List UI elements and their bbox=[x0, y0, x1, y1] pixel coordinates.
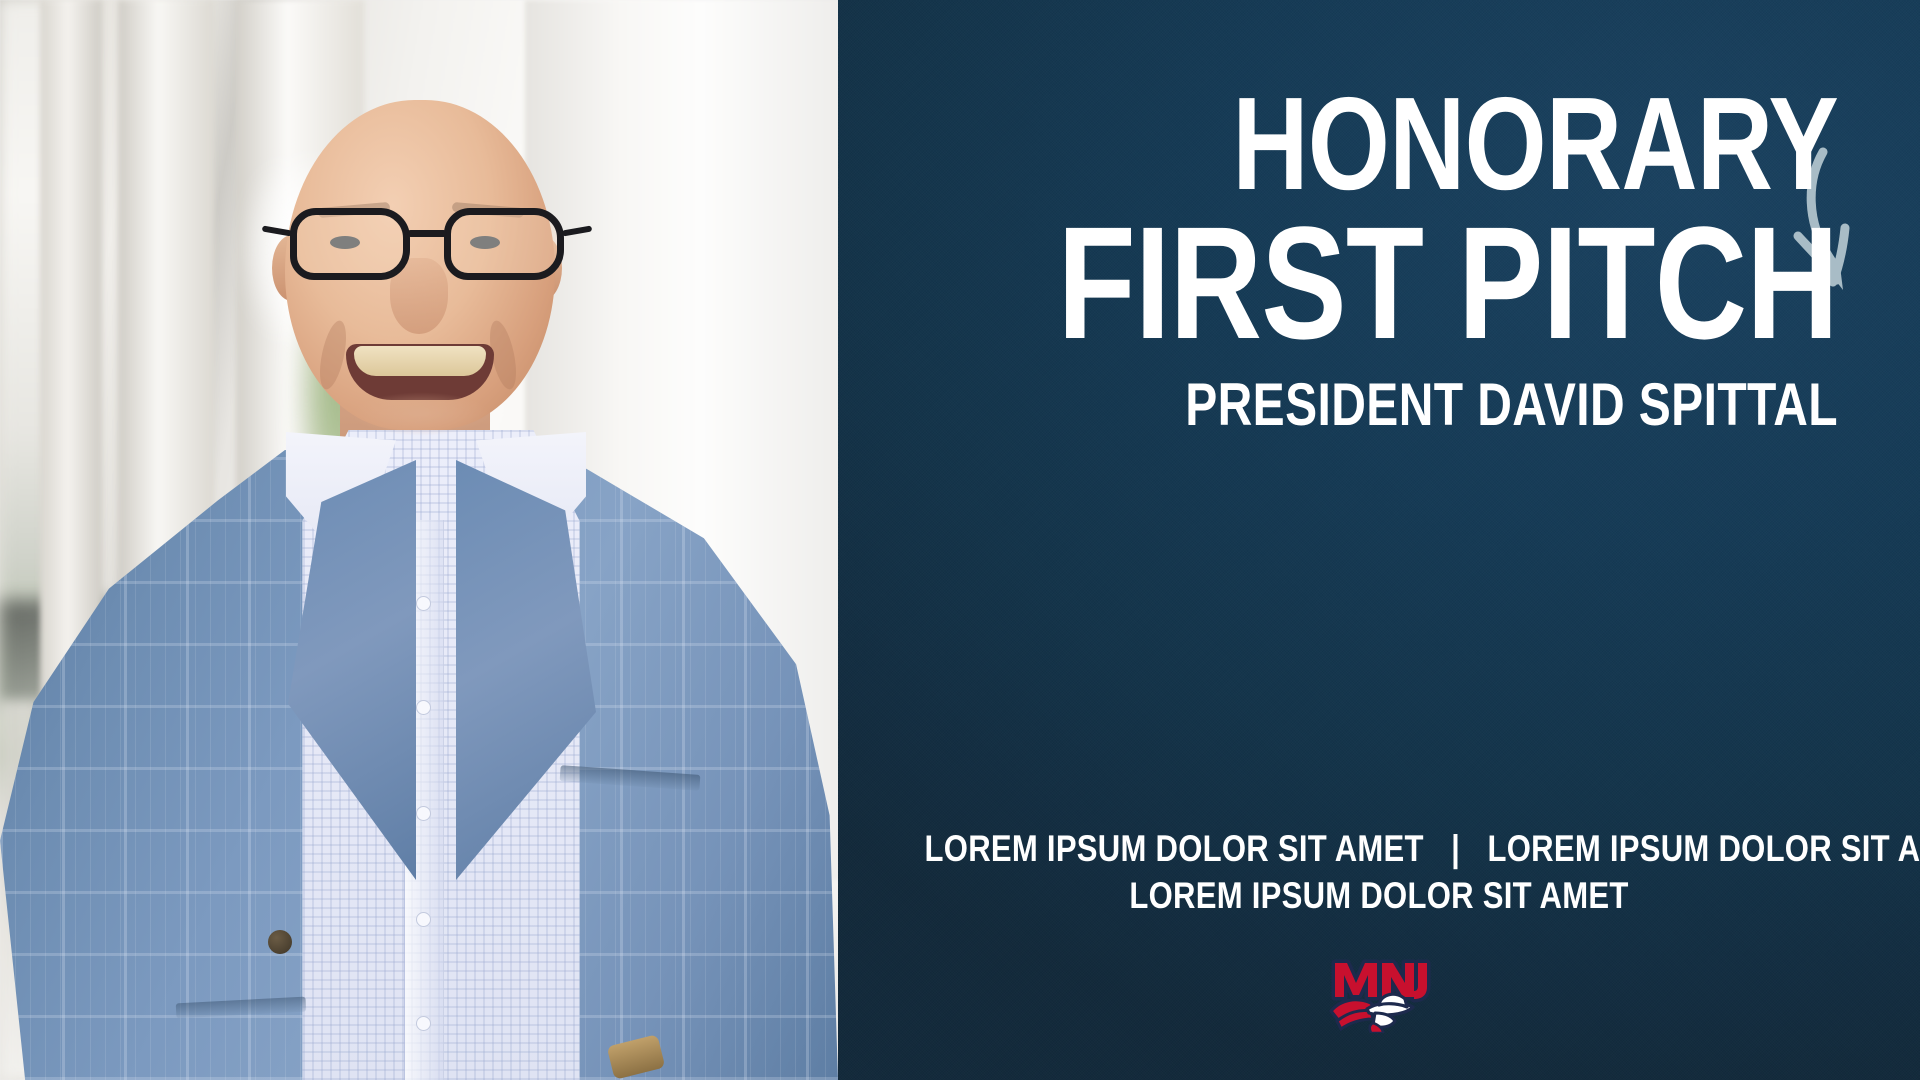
shirt-button bbox=[416, 806, 431, 821]
shirt-button bbox=[416, 700, 431, 715]
sponsor-line-2: LOREM IPSUM DOLOR SIT AMET bbox=[925, 873, 1834, 920]
glasses-bridge bbox=[407, 230, 447, 237]
blazer-button bbox=[268, 930, 292, 954]
sponsor-1: LOREM IPSUM DOLOR SIT AMET bbox=[925, 828, 1424, 869]
shirt-button bbox=[416, 596, 431, 611]
logo-container bbox=[838, 955, 1920, 1033]
headline-subtitle: PRESIDENT DAVID SPITTAL bbox=[1038, 370, 1838, 439]
headline-block: HONORARY FIRST PITCH PRESIDENT DAVID SPI… bbox=[838, 82, 1920, 439]
lens-left bbox=[290, 208, 410, 280]
glasses-temple-left bbox=[262, 225, 293, 236]
portrait-subject bbox=[0, 0, 838, 1080]
eyeglasses bbox=[276, 208, 576, 288]
sponsor-block: LOREM IPSUM DOLOR SIT AMET | LOREM IPSUM… bbox=[838, 826, 1920, 919]
sponsor-2: LOREM IPSUM DOLOR SIT AMET bbox=[1487, 828, 1920, 869]
headline-line-2: FIRST PITCH bbox=[1038, 208, 1838, 358]
headline-line-1: HONORARY bbox=[1038, 82, 1838, 206]
president-portrait-photo bbox=[0, 0, 838, 1080]
poster-canvas: HONORARY FIRST PITCH PRESIDENT DAVID SPI… bbox=[0, 0, 1920, 1080]
lens-right bbox=[444, 208, 564, 280]
teeth bbox=[354, 346, 486, 376]
event-info-panel: HONORARY FIRST PITCH PRESIDENT DAVID SPI… bbox=[838, 0, 1920, 1080]
mnu-logo bbox=[1325, 955, 1433, 1033]
chin-highlight bbox=[352, 392, 490, 436]
shirt-button bbox=[416, 912, 431, 927]
sponsor-separator: | bbox=[1433, 826, 1479, 873]
shirt-button bbox=[416, 1016, 431, 1031]
sponsor-line-1: LOREM IPSUM DOLOR SIT AMET | LOREM IPSUM… bbox=[925, 826, 1834, 873]
glasses-temple-right bbox=[562, 225, 593, 236]
